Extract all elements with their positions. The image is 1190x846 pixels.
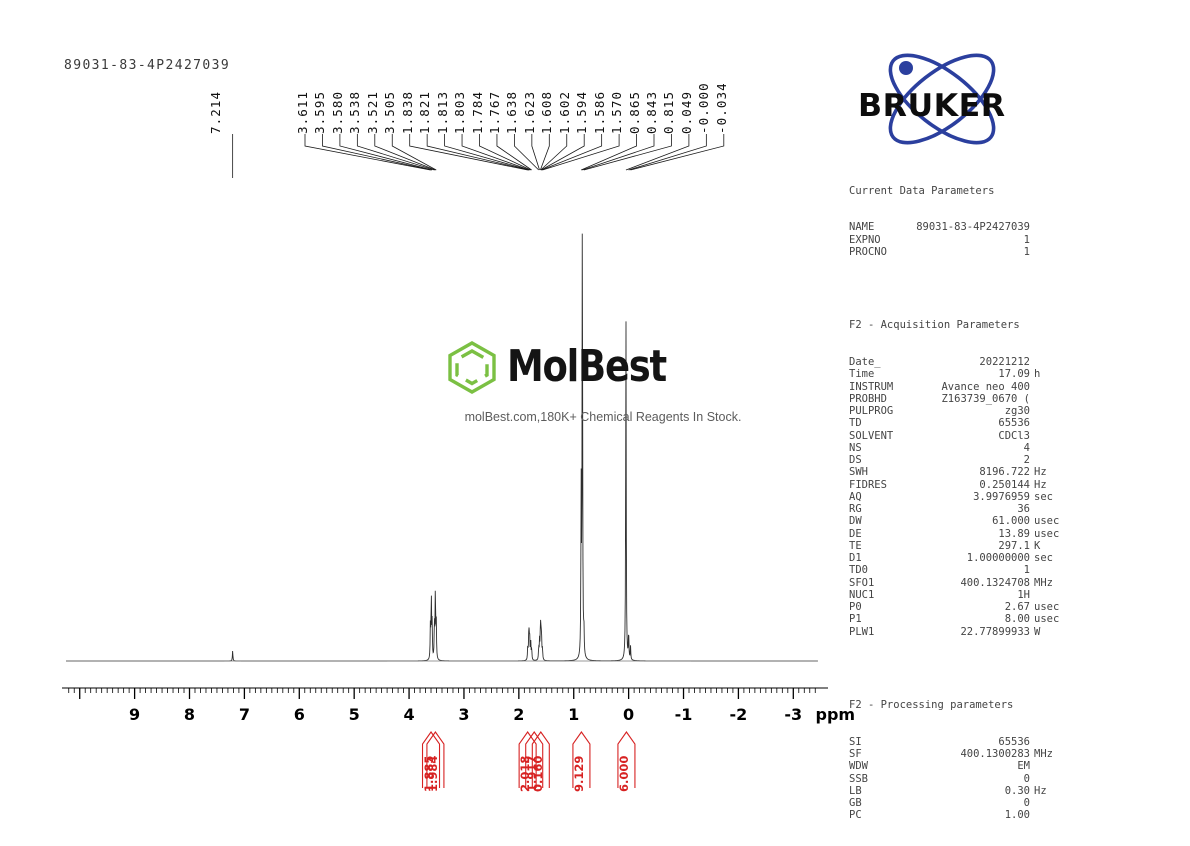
param-value: 1: [1024, 246, 1030, 258]
param-unit: [1034, 393, 1064, 405]
param-key: SI: [849, 736, 862, 748]
param-key: NAME: [849, 221, 874, 233]
param-value: Z163739_0670 (: [941, 393, 1030, 405]
param-row: P18.00usec: [849, 613, 1064, 625]
param-key: TE: [849, 540, 862, 552]
param-key: P0: [849, 601, 862, 613]
integral-value: 1.984: [426, 756, 440, 792]
param-row: EXPNO1: [849, 234, 1064, 246]
param-unit: [1034, 454, 1064, 466]
axis-tick-label: 0: [623, 705, 634, 724]
param-unit: [1034, 442, 1064, 454]
param-unit: usec: [1034, 515, 1064, 527]
param-row: SWH8196.722Hz: [849, 466, 1064, 478]
param-value: 8196.722: [979, 466, 1030, 478]
param-value: 17.09: [998, 368, 1030, 380]
param-key: Time: [849, 368, 874, 380]
param-unit: [1034, 564, 1064, 576]
param-section-current: Current Data Parameters: [849, 185, 1064, 197]
param-unit: usec: [1034, 601, 1064, 613]
param-unit: Hz: [1034, 479, 1064, 491]
param-unit: h: [1034, 368, 1064, 380]
param-value: 400.1300283: [960, 748, 1030, 760]
param-row: SFO1400.1324708MHz: [849, 577, 1064, 589]
param-section-processing: F2 - Processing parameters: [849, 699, 1064, 711]
param-value: 65536: [998, 417, 1030, 429]
param-key: Date_: [849, 356, 881, 368]
param-key: LB: [849, 785, 862, 797]
param-key: SWH: [849, 466, 868, 478]
param-value: 4: [1024, 442, 1030, 454]
axis-tick-label: 3: [458, 705, 469, 724]
param-unit: [1034, 405, 1064, 417]
param-unit: K: [1034, 540, 1064, 552]
param-unit: [1034, 221, 1064, 233]
axis-tick-label: 5: [349, 705, 360, 724]
axis-tick-label: -2: [730, 705, 748, 724]
bruker-wordmark: BRUKER: [858, 88, 1006, 124]
param-key: SF: [849, 748, 862, 760]
param-key: PC: [849, 809, 862, 821]
param-row: FIDRES0.250144Hz: [849, 479, 1064, 491]
param-unit: Hz: [1034, 466, 1064, 478]
param-value: 0: [1024, 797, 1030, 809]
param-unit: [1034, 246, 1064, 258]
axis-tick-label: -1: [675, 705, 693, 724]
spectrum-trace: [0, 0, 870, 690]
param-value: 61.000: [992, 515, 1030, 527]
axis-tick-label: 9: [129, 705, 140, 724]
param-value: 2: [1024, 454, 1030, 466]
param-unit: [1034, 773, 1064, 785]
param-value: Avance neo 400: [941, 381, 1030, 393]
param-section-acquisition: F2 - Acquisition Parameters: [849, 319, 1064, 331]
param-row: DS2: [849, 454, 1064, 466]
integral-value: 6.000: [617, 756, 631, 792]
param-value: 8.00: [1005, 613, 1030, 625]
param-group-acquisition: Date_20221212Time17.09hINSTRUMAvance neo…: [849, 356, 1064, 638]
param-row: P02.67usec: [849, 601, 1064, 613]
param-row: SSB0: [849, 773, 1064, 785]
param-group-processing: SI65536SF400.1300283MHzWDWEMSSB0LB0.30Hz…: [849, 736, 1064, 822]
param-key: DE: [849, 528, 862, 540]
param-row: RG36: [849, 503, 1064, 515]
param-unit: sec: [1034, 491, 1064, 503]
param-unit: usec: [1034, 613, 1064, 625]
param-value: 1: [1024, 234, 1030, 246]
param-value: 65536: [998, 736, 1030, 748]
param-key: PULPROG: [849, 405, 893, 417]
param-row: SI65536: [849, 736, 1064, 748]
param-key: NUC1: [849, 589, 874, 601]
param-row: PLW122.77899933W: [849, 626, 1064, 638]
param-row: INSTRUMAvance neo 400: [849, 381, 1064, 393]
param-value: 13.89: [998, 528, 1030, 540]
param-row: NAME89031-83-4P2427039: [849, 221, 1064, 233]
param-key: WDW: [849, 760, 868, 772]
param-unit: Hz: [1034, 785, 1064, 797]
param-value: EM: [1017, 760, 1030, 772]
param-key: EXPNO: [849, 234, 881, 246]
param-row: NS4: [849, 442, 1064, 454]
param-row: SOLVENTCDCl3: [849, 430, 1064, 442]
param-key: AQ: [849, 491, 862, 503]
param-value: 1.00000000: [967, 552, 1030, 564]
param-value: 1: [1024, 564, 1030, 576]
param-value: 3.9976959: [973, 491, 1030, 503]
param-group-current: NAME89031-83-4P2427039EXPNO1PROCNO1: [849, 221, 1064, 258]
param-row: TD65536: [849, 417, 1064, 429]
param-row: PULPROGzg30: [849, 405, 1064, 417]
param-value: 0.30: [1005, 785, 1030, 797]
param-key: P1: [849, 613, 862, 625]
axis-tick-label: 8: [184, 705, 195, 724]
param-value: 1.00: [1005, 809, 1030, 821]
param-value: 0.250144: [979, 479, 1030, 491]
axis-tick-label: 6: [294, 705, 305, 724]
param-row: PC1.00: [849, 809, 1064, 821]
param-unit: [1034, 736, 1064, 748]
axis-tick-label: -3: [784, 705, 802, 724]
param-key: PROCNO: [849, 246, 887, 258]
param-key: DS: [849, 454, 862, 466]
param-key: TD: [849, 417, 862, 429]
param-value: CDCl3: [998, 430, 1030, 442]
param-value: 297.1: [998, 540, 1030, 552]
param-key: SOLVENT: [849, 430, 893, 442]
param-key: PROBHD: [849, 393, 887, 405]
param-unit: [1034, 356, 1064, 368]
bruker-logo-dot: [899, 61, 913, 75]
ppm-axis: 9876543210-1-2-3ppm: [0, 676, 870, 726]
param-row: TE297.1K: [849, 540, 1064, 552]
param-row: SF400.1300283MHz: [849, 748, 1064, 760]
axis-tick-label: 4: [403, 705, 414, 724]
param-key: NS: [849, 442, 862, 454]
param-value: zg30: [1005, 405, 1030, 417]
param-row: D11.00000000sec: [849, 552, 1064, 564]
param-value: 36: [1017, 503, 1030, 515]
param-row: WDWEM: [849, 760, 1064, 772]
param-row: GB0: [849, 797, 1064, 809]
param-row: TD01: [849, 564, 1064, 576]
param-row: PROCNO1: [849, 246, 1064, 258]
param-row: Date_20221212: [849, 356, 1064, 368]
nmr-spectrum-page: 89031-83-4P2427039 7.2143.6113.5953.5803…: [0, 0, 1190, 842]
param-value: 22.77899933: [960, 626, 1030, 638]
param-value: 2.67: [1005, 601, 1030, 613]
param-key: D1: [849, 552, 862, 564]
param-row: Time17.09h: [849, 368, 1064, 380]
param-unit: [1034, 809, 1064, 821]
param-unit: sec: [1034, 552, 1064, 564]
param-unit: [1034, 760, 1064, 772]
param-unit: [1034, 589, 1064, 601]
param-unit: MHz: [1034, 748, 1064, 760]
param-value: 20221212: [979, 356, 1030, 368]
param-key: DW: [849, 515, 862, 527]
param-value: 89031-83-4P2427039: [916, 221, 1030, 233]
param-key: FIDRES: [849, 479, 887, 491]
param-unit: [1034, 503, 1064, 515]
param-unit: W: [1034, 626, 1064, 638]
param-key: GB: [849, 797, 862, 809]
param-key: SFO1: [849, 577, 874, 589]
param-key: SSB: [849, 773, 868, 785]
axis-tick-label: 7: [239, 705, 250, 724]
param-row: PROBHDZ163739_0670 (: [849, 393, 1064, 405]
param-value: 400.1324708: [960, 577, 1030, 589]
param-row: DE13.89usec: [849, 528, 1064, 540]
param-unit: [1034, 430, 1064, 442]
axis-tick-label: 1: [568, 705, 579, 724]
param-key: RG: [849, 503, 862, 515]
parameter-panel: Current Data Parameters NAME89031-83-4P2…: [849, 160, 1064, 846]
param-key: INSTRUM: [849, 381, 893, 393]
param-value: 0: [1024, 773, 1030, 785]
param-row: NUC11H: [849, 589, 1064, 601]
integral-value: 0.160: [531, 756, 545, 792]
param-unit: [1034, 381, 1064, 393]
axis-tick-label: 2: [513, 705, 524, 724]
param-row: LB0.30Hz: [849, 785, 1064, 797]
param-unit: usec: [1034, 528, 1064, 540]
spectrum-polyline: [66, 234, 818, 661]
param-key: PLW1: [849, 626, 874, 638]
param-key: TD0: [849, 564, 868, 576]
param-unit: [1034, 797, 1064, 809]
integral-value: 9.129: [572, 756, 586, 792]
param-row: DW61.000usec: [849, 515, 1064, 527]
param-unit: MHz: [1034, 577, 1064, 589]
param-unit: [1034, 234, 1064, 246]
param-unit: [1034, 417, 1064, 429]
param-row: AQ3.9976959sec: [849, 491, 1064, 503]
param-value: 1H: [1017, 589, 1030, 601]
